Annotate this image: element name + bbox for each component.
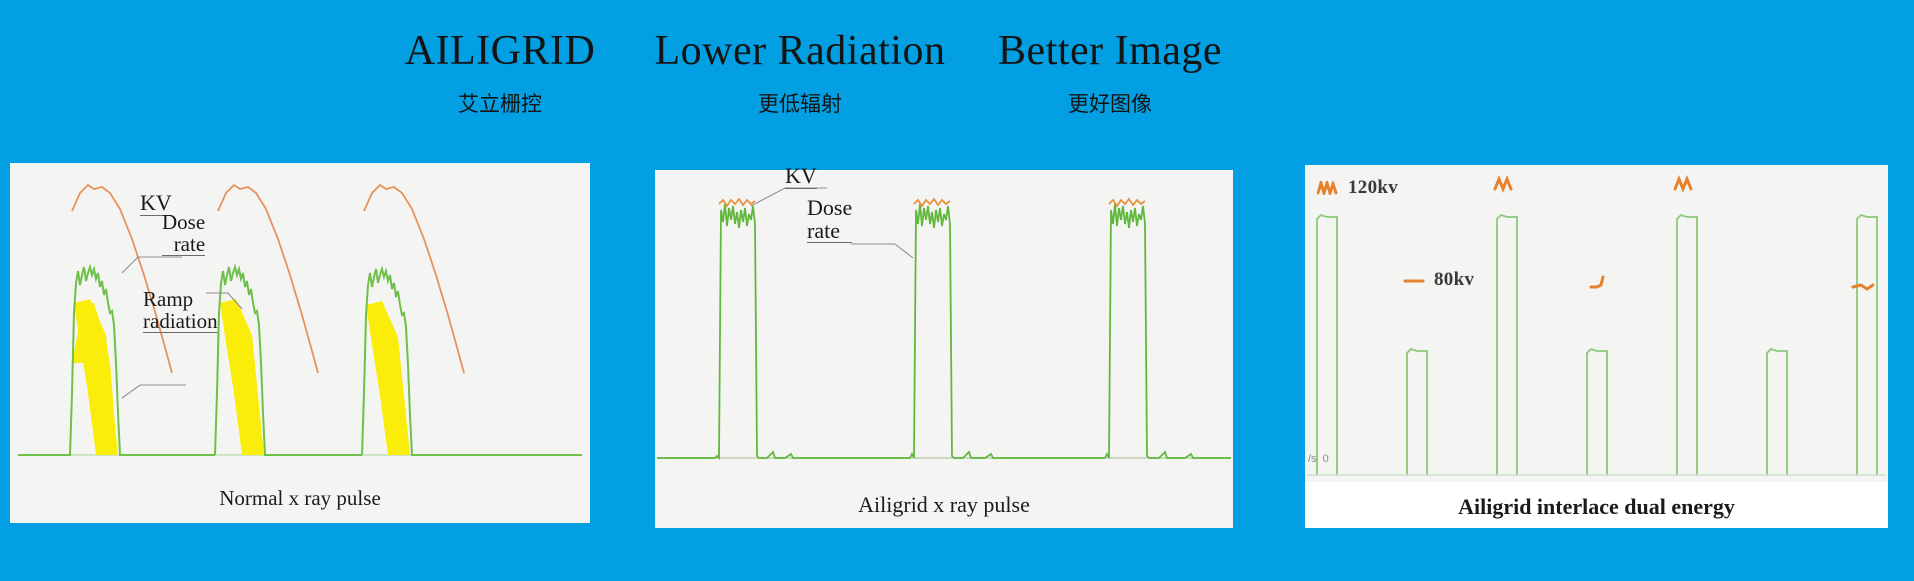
legend-80kv: 80kv bbox=[1403, 269, 1474, 291]
low-energy-pulses bbox=[1407, 349, 1787, 475]
chart-plot-dual-energy bbox=[1305, 165, 1888, 528]
annotation-kv: KV bbox=[785, 164, 817, 189]
legend-120kv-label: 120kv bbox=[1348, 177, 1398, 199]
chart-panel-ailigrid-xray-pulse: KV Dose rate Ailigrid x ray pulse bbox=[655, 170, 1233, 528]
panel-caption-dual-energy: Ailigrid interlace dual energy bbox=[1305, 494, 1888, 520]
annotation-dose-rate: Dose rate bbox=[162, 211, 205, 256]
dose-rate-trace bbox=[657, 204, 1231, 458]
dual-energy-svg bbox=[1305, 165, 1888, 528]
chart-panel-interlace-dual-energy: 120kv 80kv /s 0 Ailigrid interlace dual … bbox=[1305, 165, 1888, 528]
annotation-dose-rate: Dose rate bbox=[807, 196, 852, 243]
kv-marker-icon bbox=[1317, 181, 1339, 195]
page-header: AILIGRID 艾立栅控 Lower Radiation 更低辐射 Bette… bbox=[0, 0, 1914, 140]
legend-80kv-label: 80kv bbox=[1434, 269, 1474, 291]
normal-pulse-svg bbox=[10, 163, 590, 523]
kv-trace bbox=[72, 185, 464, 373]
chart-plot-ailigrid bbox=[655, 170, 1233, 528]
header-title-cn-2: 更好图像 bbox=[900, 88, 1320, 118]
panel-caption-normal: Normal x ray pulse bbox=[10, 486, 590, 511]
kv-marker-traces bbox=[1495, 179, 1873, 289]
axis-label-partial: /s 0 bbox=[1308, 453, 1329, 465]
kv-flat-marker-icon bbox=[1403, 273, 1425, 287]
header-title-en-2: Better Image bbox=[900, 30, 1320, 72]
high-energy-pulses bbox=[1317, 215, 1877, 475]
panel-caption-ailigrid: Ailigrid x ray pulse bbox=[655, 492, 1233, 518]
header-group-better-image: Better Image 更好图像 bbox=[900, 30, 1320, 118]
ailigrid-pulse-svg bbox=[655, 170, 1233, 528]
legend-120kv: 120kv bbox=[1317, 177, 1398, 199]
annotation-ramp-radiation: Ramp radiation bbox=[143, 288, 218, 333]
chart-panel-normal-xray-pulse: KV Dose rate Ramp radiation Normal x ray… bbox=[10, 163, 590, 523]
ramp-radiation-fills bbox=[70, 299, 410, 455]
chart-plot-normal bbox=[10, 163, 590, 523]
kv-trace bbox=[719, 199, 1145, 206]
